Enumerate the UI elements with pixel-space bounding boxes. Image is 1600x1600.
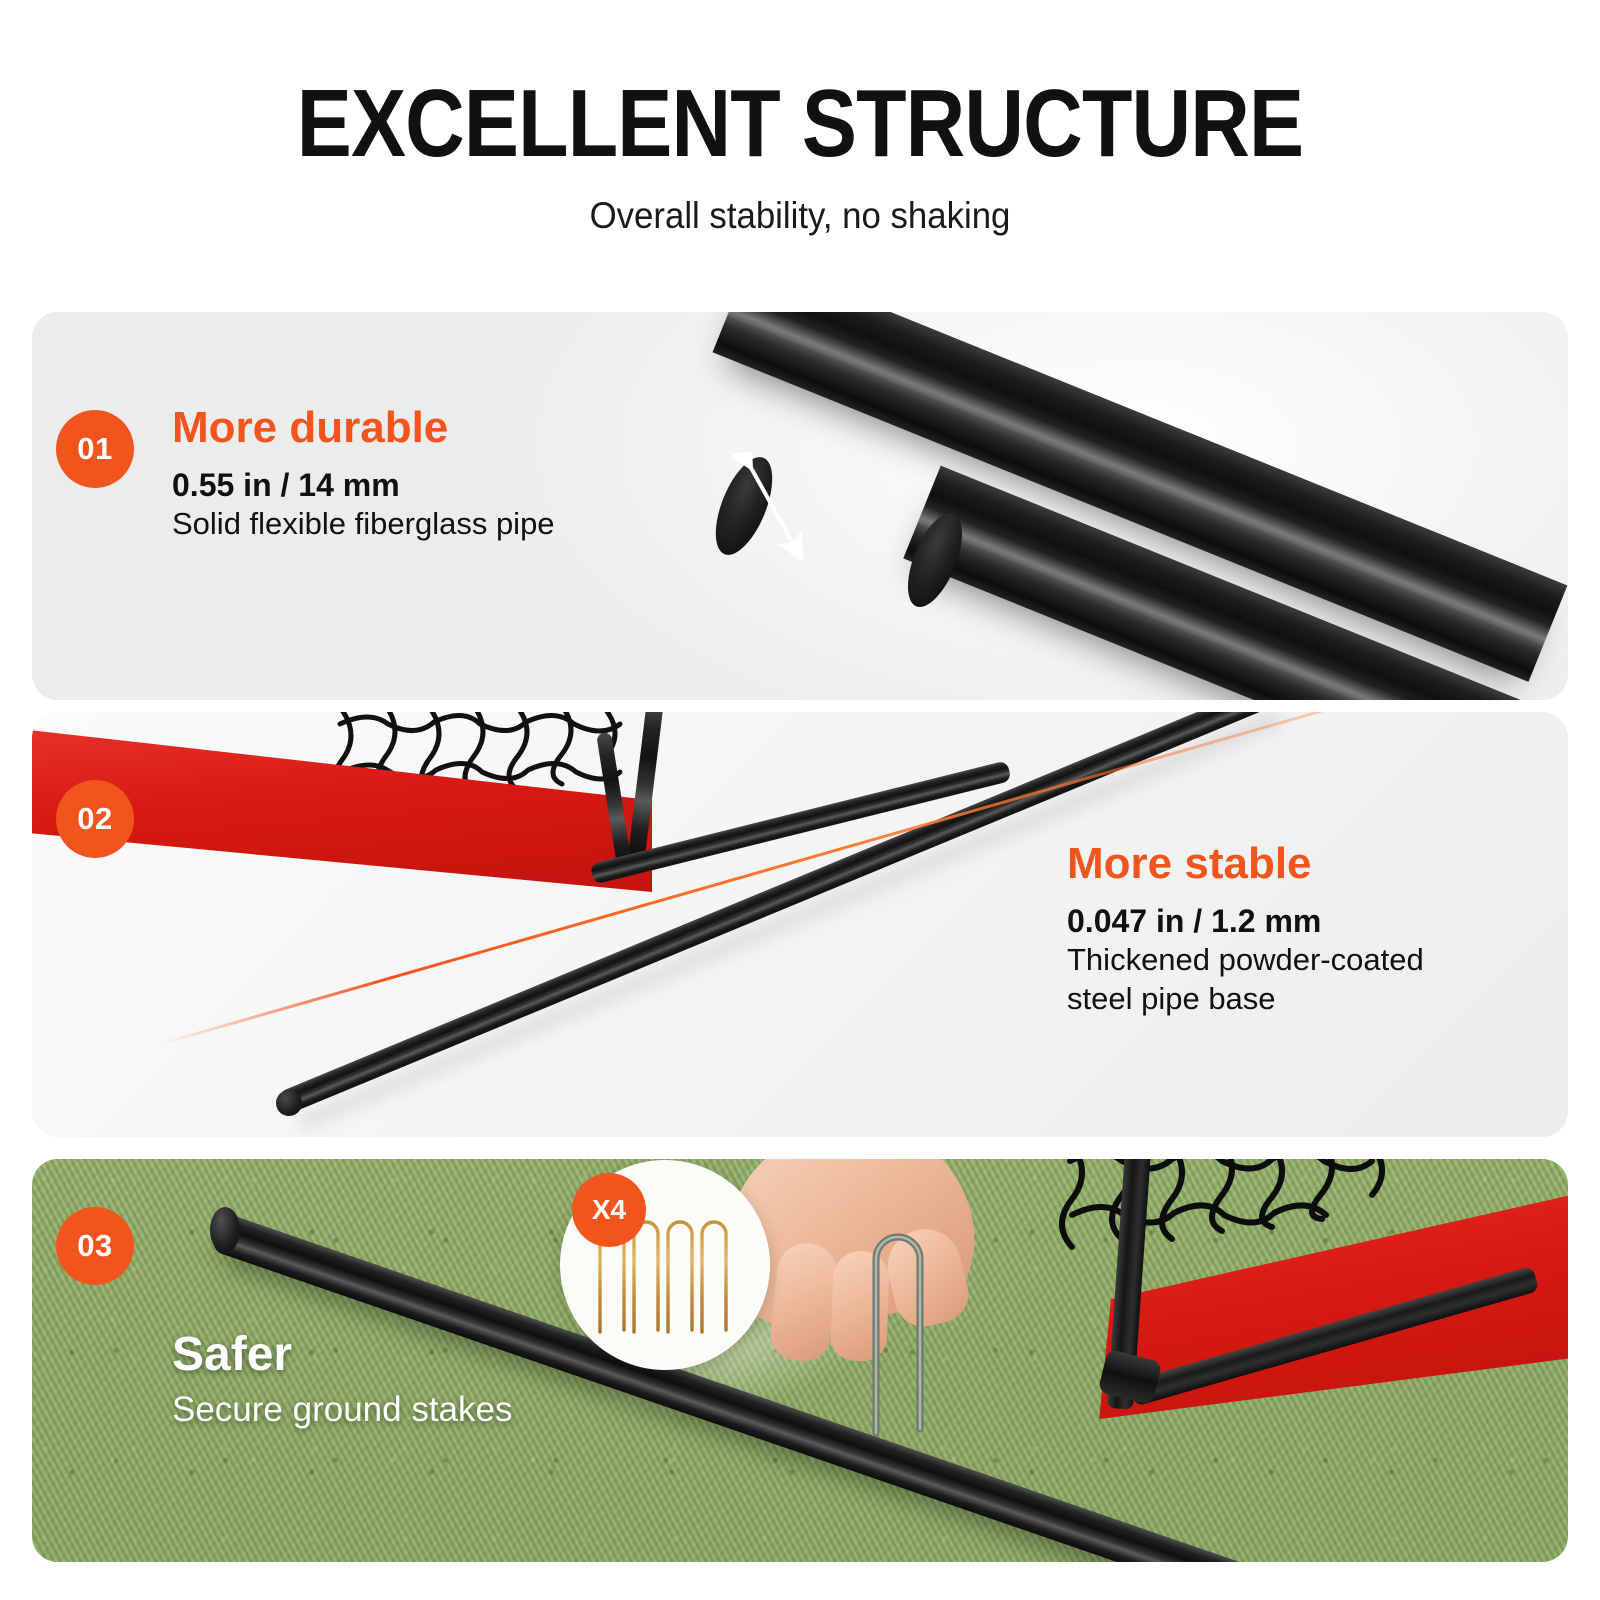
card-heading-03: Safer: [172, 1329, 512, 1382]
card-heading-01: More durable: [172, 404, 555, 452]
ground-stake-held-icon: [850, 1219, 960, 1439]
page-subtitle: Overall stability, no shaking: [48, 195, 1552, 237]
feature-card-safety: X4 03 Safer Secure ground stakes: [32, 1159, 1568, 1562]
card-description-02-line2: steel pipe base: [1067, 980, 1424, 1019]
card-number-badge-03: 03: [56, 1207, 134, 1285]
card-description-02-line1: Thickened powder-coated: [1067, 941, 1424, 980]
feature-card-durability: 01 More durable 0.55 in / 14 mm Solid fl…: [32, 312, 1568, 700]
card-heading-02: More stable: [1067, 840, 1424, 888]
base-pipe-foreground-cap: [210, 1207, 240, 1253]
card-text-block-01: More durable 0.55 in / 14 mm Solid flexi…: [172, 404, 555, 544]
feature-card-stability: 02 More stable 0.047 in / 1.2 mm Thicken…: [32, 712, 1568, 1137]
header: EXCELLENT STRUCTURE Overall stability, n…: [0, 0, 1600, 237]
stake-quantity-badge: X4: [572, 1173, 646, 1247]
card-spec-02: 0.047 in / 1.2 mm: [1067, 902, 1424, 941]
card-number-badge-01: 01: [56, 410, 134, 488]
feature-card-list: 01 More durable 0.55 in / 14 mm Solid fl…: [32, 312, 1568, 1562]
card-number-badge-02: 02: [56, 780, 134, 858]
card-description-01: Solid flexible fiberglass pipe: [172, 505, 555, 544]
card-description-03: Secure ground stakes: [172, 1388, 512, 1432]
card-text-block-02: More stable 0.047 in / 1.2 mm Thickened …: [1067, 840, 1424, 1019]
base-pipe-end-cap: [276, 1090, 302, 1116]
page-title: EXCELLENT STRUCTURE: [112, 78, 1488, 169]
card-spec-01: 0.55 in / 14 mm: [172, 466, 555, 505]
dimension-arrow-icon: [732, 452, 842, 572]
card-text-block-03: Safer Secure ground stakes: [172, 1329, 512, 1432]
